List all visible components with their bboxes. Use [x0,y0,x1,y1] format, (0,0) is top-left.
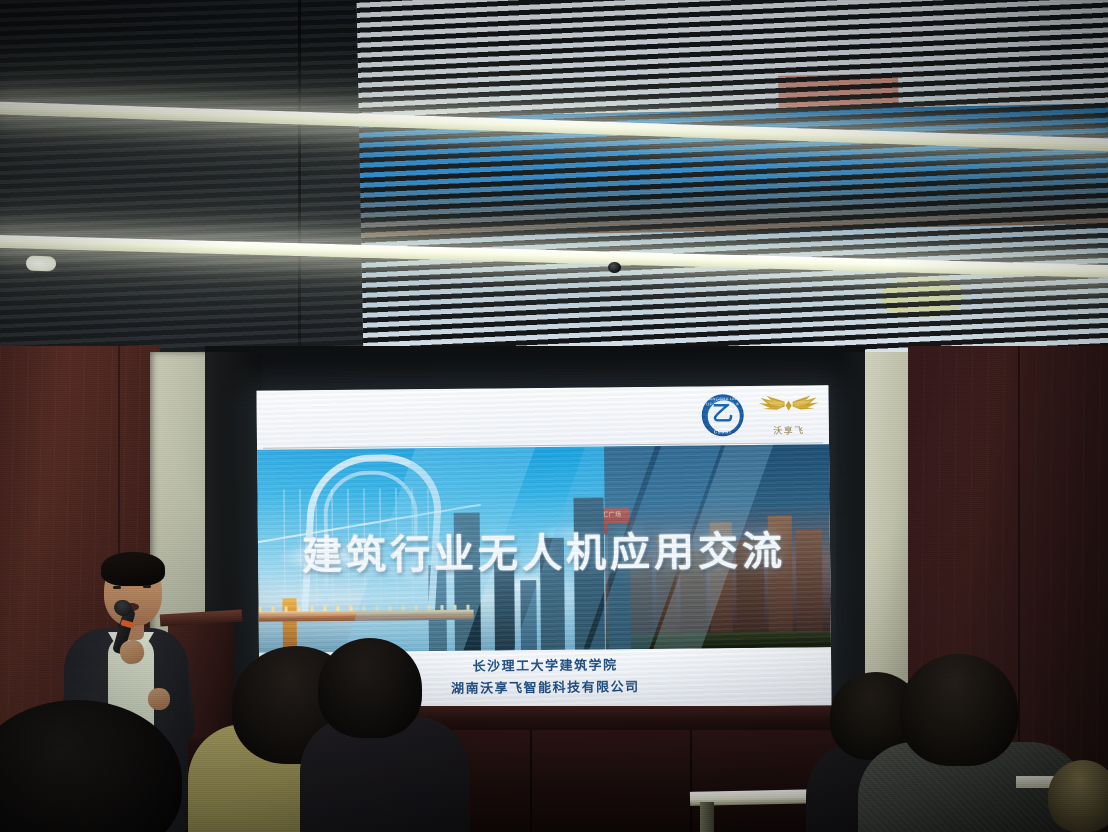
lamp-end-cap [26,256,56,272]
presenter-hair [101,552,165,586]
presenter-eye-right [143,585,151,588]
audience-member-tweed-head [900,654,1018,766]
bridge-deck [259,610,474,622]
audience-member-dark-left-head [318,638,422,738]
company-wings-logo: 沃享飞 [757,391,821,438]
stage-panel-seam [690,730,692,832]
photograph-scene: CHANGSHA UNIV. OF SCIENCE & TECH 乙 CSUST… [0,0,1108,832]
university-seal-logo: CHANGSHA UNIV. OF SCIENCE & TECH 乙 CSUST [702,394,744,436]
company-logo-label: 沃享飞 [757,423,821,437]
presenter-free-hand [148,688,170,710]
audience-member-far-right-head [1048,760,1108,832]
university-logo-abbr: CSUST [702,429,744,434]
ceiling-sensor-icon [608,262,621,273]
university-logo-glyph: 乙 [711,401,735,425]
desk-right-leg [700,802,714,832]
slide-title: 建筑行业无人机应用交流 [258,518,831,581]
wings-icon [757,393,821,420]
rolling-shutter-bands [356,0,1108,388]
ceiling-rib [298,0,301,390]
presenter-eye-left [113,586,121,589]
background-led-wall [356,0,1108,388]
stage-panel-seam [530,730,532,832]
slide-hero-image: 天汇广场 [257,444,831,652]
